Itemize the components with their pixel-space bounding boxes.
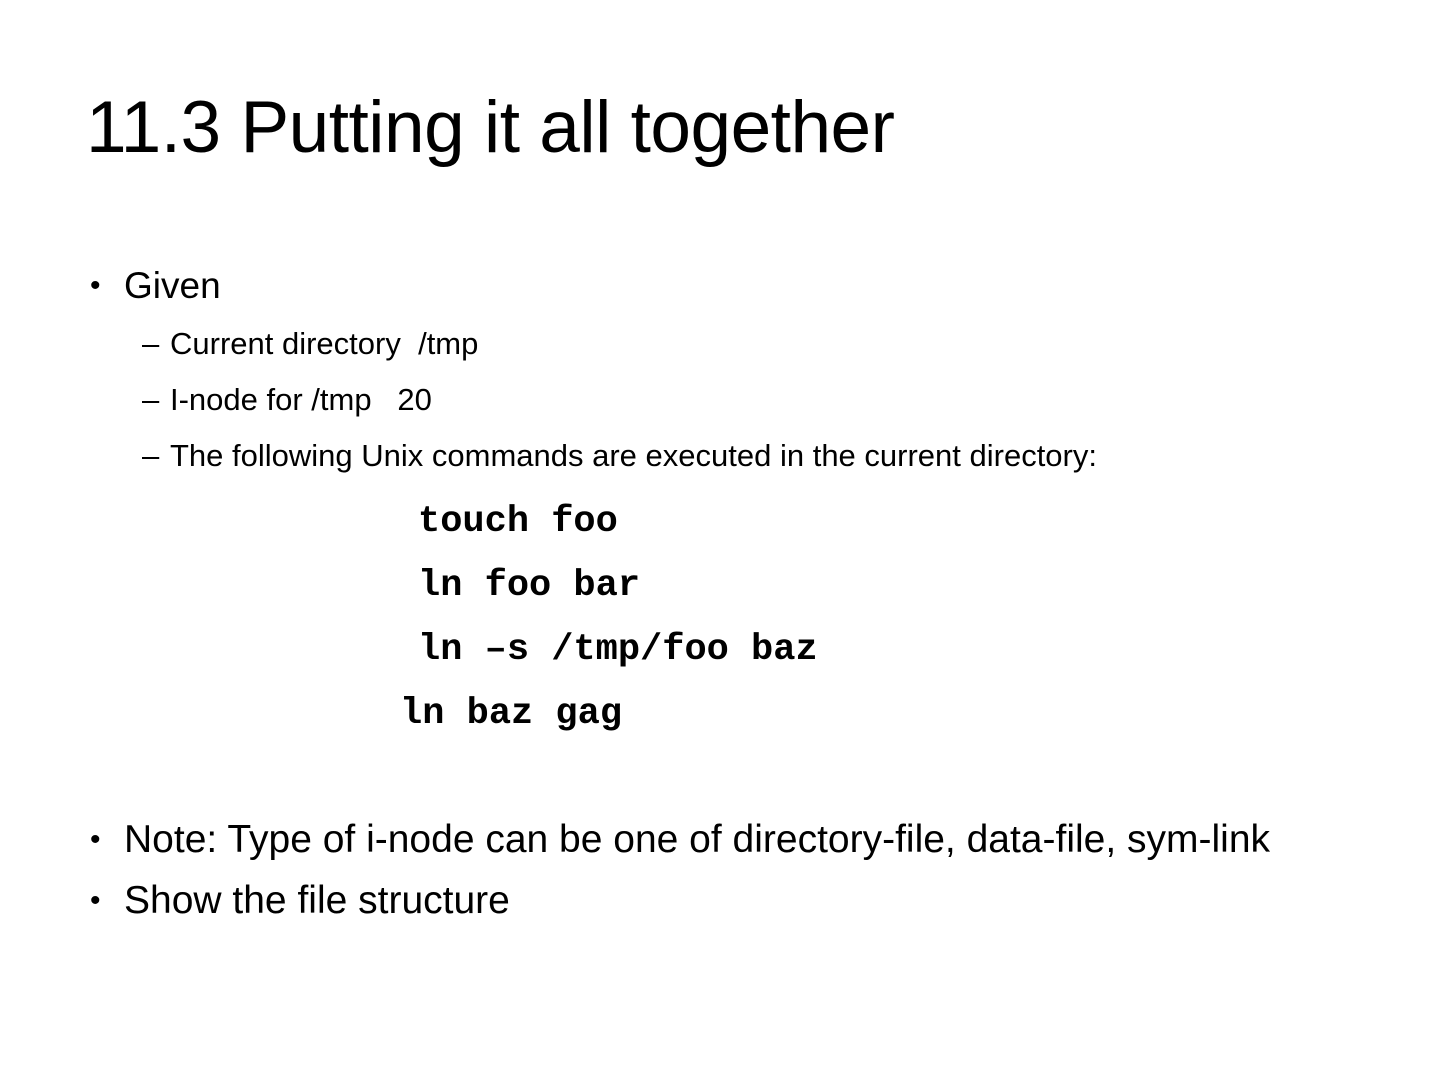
sub-bullet-inode-for-tmp: – I-node for /tmp 20 bbox=[84, 372, 1384, 428]
command-line-touch-foo: touch foo bbox=[84, 490, 1384, 554]
command-line-ln-s-tmp-foo-baz: ln –s /tmp/foo baz bbox=[84, 618, 1384, 682]
sub-bullet-commands-intro: – The following Unix commands are execut… bbox=[84, 428, 1384, 484]
slide: 11.3 Putting it all together • Given – C… bbox=[0, 0, 1440, 1080]
slide-body-notes: • Note: Type of i-node can be one of dir… bbox=[84, 812, 1294, 934]
page-title: 11.3 Putting it all together bbox=[86, 84, 1366, 172]
sub-bullet-inode-for-tmp-label: I-node for /tmp 20 bbox=[170, 382, 432, 417]
slide-body: • Given – Current directory /tmp – I-nod… bbox=[84, 258, 1384, 746]
bullet-note-inode-types-label: Note: Type of i-node can be one of direc… bbox=[124, 818, 1270, 861]
bullet-given-label: Given bbox=[124, 265, 221, 306]
bullet-show-file-structure: • Show the file structure bbox=[84, 873, 1294, 928]
bullet-dot-icon: • bbox=[90, 812, 101, 867]
command-line-ln-foo-bar: ln foo bar bbox=[84, 554, 1384, 618]
sub-bullet-current-directory-label: Current directory /tmp bbox=[170, 326, 478, 361]
bullet-dot-icon: • bbox=[90, 873, 101, 928]
dash-bullet-icon: – bbox=[142, 316, 159, 372]
command-block: touch foo ln foo bar ln –s /tmp/foo baz … bbox=[84, 490, 1384, 746]
bullet-show-file-structure-label: Show the file structure bbox=[124, 879, 510, 922]
command-line-ln-baz-gag: ln baz gag bbox=[84, 682, 1384, 746]
sub-bullet-current-directory: – Current directory /tmp bbox=[84, 316, 1384, 372]
bullet-note-inode-types: • Note: Type of i-node can be one of dir… bbox=[84, 812, 1294, 867]
sub-bullet-commands-intro-label: The following Unix commands are executed… bbox=[170, 438, 1097, 473]
dash-bullet-icon: – bbox=[142, 428, 159, 484]
dash-bullet-icon: – bbox=[142, 372, 159, 428]
bullet-dot-icon: • bbox=[90, 258, 101, 314]
bullet-given: • Given bbox=[84, 258, 1384, 314]
